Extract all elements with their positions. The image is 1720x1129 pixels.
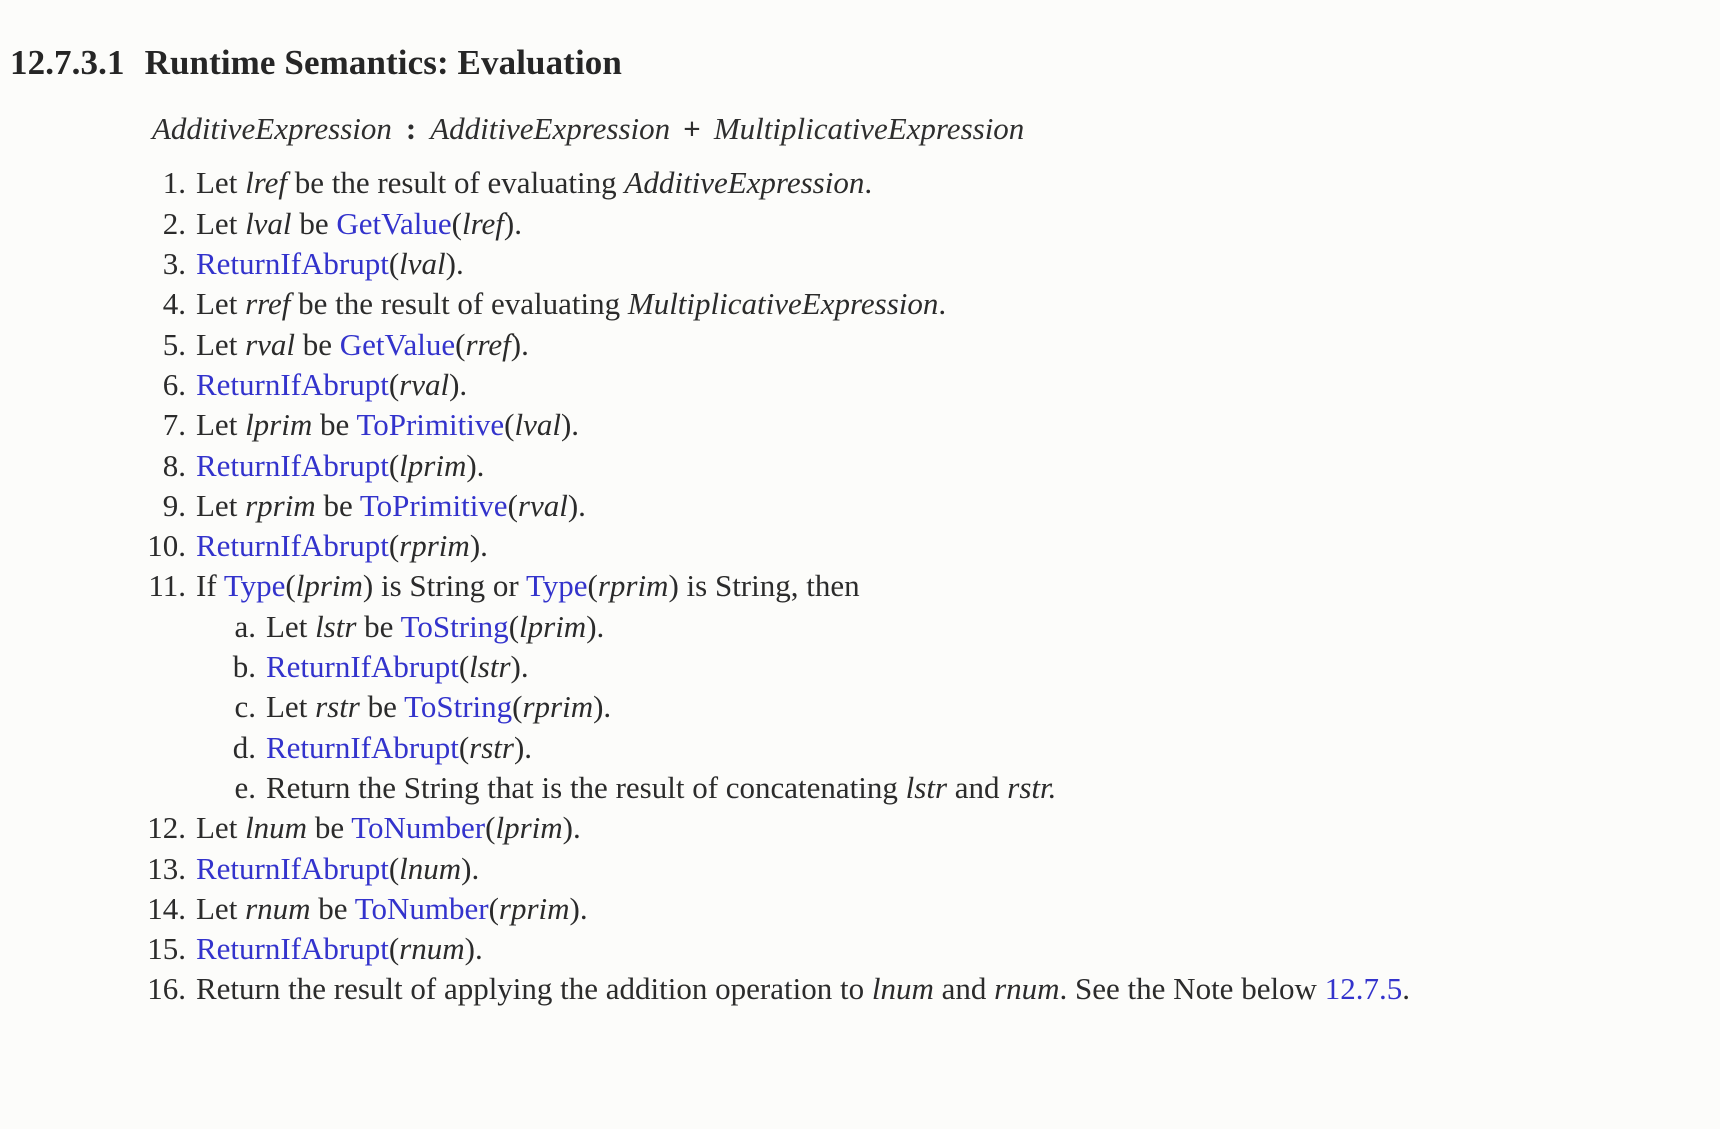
algorithm-step: 10.ReturnIfAbrupt(rprim). — [0, 526, 1720, 566]
step-text: . — [864, 165, 872, 200]
abstract-operation-link[interactable]: ReturnIfAbrupt — [196, 367, 389, 402]
step-text: Let — [196, 286, 245, 321]
step-body: ReturnIfAbrupt(rstr). — [266, 728, 532, 768]
step-text: ( — [504, 407, 514, 442]
algorithm-step: 16.Return the result of applying the add… — [0, 969, 1720, 1009]
abstract-operation-link[interactable]: ToString — [401, 609, 509, 644]
step-body: ReturnIfAbrupt(lval). — [196, 244, 464, 284]
variable-name: rnum — [994, 971, 1059, 1006]
step-text: ). — [466, 448, 484, 483]
step-body: ReturnIfAbrupt(lnum). — [196, 849, 479, 889]
step-text: be — [292, 206, 337, 241]
step-marker: 4. — [114, 284, 186, 324]
step-text: Let — [196, 488, 245, 523]
step-marker: 16. — [114, 969, 186, 1009]
step-text: and — [947, 770, 1007, 805]
step-text: be — [312, 407, 356, 442]
step-text: ( — [389, 246, 399, 281]
algorithm-step: 4.Let rref be the result of evaluating M… — [0, 284, 1720, 324]
step-text: ( — [389, 851, 399, 886]
variable-name: lprim — [519, 609, 586, 644]
step-text: Let — [266, 689, 315, 724]
step-text: . See the Note below — [1060, 971, 1325, 1006]
variable-name: lstr — [315, 609, 356, 644]
variable-name: lstr — [469, 649, 510, 684]
step-text: ). — [511, 649, 529, 684]
step-text: ( — [452, 206, 462, 241]
step-marker: 6. — [114, 365, 186, 405]
step-text: ( — [389, 931, 399, 966]
step-marker: 13. — [114, 849, 186, 889]
step-text: Return the String that is the result of … — [266, 770, 906, 805]
abstract-operation-link[interactable]: ReturnIfAbrupt — [196, 851, 389, 886]
step-text: ). — [563, 810, 581, 845]
step-text: be the result of evaluating — [290, 286, 627, 321]
variable-name: lref — [462, 206, 504, 241]
step-body: Let lstr be ToString(lprim). — [266, 607, 604, 647]
step-text: ( — [587, 568, 597, 603]
step-marker: e. — [186, 768, 256, 808]
algorithm-step: 15.ReturnIfAbrupt(rnum). — [0, 929, 1720, 969]
production-rhs-second: MultiplicativeExpression — [714, 111, 1025, 146]
step-body: Let rprim be ToPrimitive(rval). — [196, 486, 586, 526]
algorithm-step: 2.Let lval be GetValue(lref). — [0, 204, 1720, 244]
abstract-operation-link[interactable]: Type — [526, 568, 588, 603]
abstract-operation-link[interactable]: ReturnIfAbrupt — [196, 931, 389, 966]
step-text: ). — [504, 206, 522, 241]
page-title: 12.7.3.1 Runtime Semantics: Evaluation — [0, 23, 1720, 85]
step-text: . — [938, 286, 946, 321]
step-marker: 2. — [114, 204, 186, 244]
abstract-operation-link[interactable]: Type — [224, 568, 286, 603]
step-text: be — [311, 891, 355, 926]
step-body: Let rstr be ToString(rprim). — [266, 687, 611, 727]
step-text: ( — [285, 568, 295, 603]
step-text: ). — [514, 730, 532, 765]
step-body: ReturnIfAbrupt(lstr). — [266, 647, 529, 687]
step-body: Return the String that is the result of … — [266, 768, 1056, 808]
clause-cross-reference-link[interactable]: 12.7.5 — [1325, 971, 1403, 1006]
step-text: ( — [508, 488, 518, 523]
step-text: ). — [561, 407, 579, 442]
step-text: ). — [586, 609, 604, 644]
step-body: Return the result of applying the additi… — [196, 969, 1410, 1009]
step-marker: c. — [186, 687, 256, 727]
variable-name: lprim — [399, 448, 466, 483]
algorithm-substep: a.Let lstr be ToString(lprim). — [0, 607, 1720, 647]
algorithm-step: 12.Let lnum be ToNumber(lprim). — [0, 808, 1720, 848]
step-text: Let — [196, 810, 245, 845]
step-text: Let — [196, 327, 245, 362]
step-text: ). — [570, 891, 588, 926]
step-marker: 10. — [114, 526, 186, 566]
step-body: Let lref be the result of evaluating Add… — [196, 163, 872, 203]
step-marker: 8. — [114, 446, 186, 486]
step-body: Let rref be the result of evaluating Mul… — [196, 284, 946, 324]
variable-name: lnum — [872, 971, 934, 1006]
step-text: ( — [459, 730, 469, 765]
step-text: be the result of evaluating — [287, 165, 624, 200]
step-text: ). — [593, 689, 611, 724]
variable-name: lprim — [495, 810, 562, 845]
clause-number: 12.7.3.1 — [10, 41, 125, 85]
abstract-operation-link[interactable]: ReturnIfAbrupt — [266, 649, 459, 684]
variable-name: lval — [245, 206, 292, 241]
algorithm-step: 8.ReturnIfAbrupt(lprim). — [0, 446, 1720, 486]
variable-name: lprim — [296, 568, 363, 603]
step-text: ( — [389, 367, 399, 402]
spec-page: 12.7.3.1 Runtime Semantics: Evaluation A… — [0, 23, 1720, 1129]
algorithm-step: 3.ReturnIfAbrupt(lval). — [0, 244, 1720, 284]
abstract-operation-link[interactable]: ToString — [404, 689, 512, 724]
step-marker: b. — [186, 647, 256, 687]
substep-group: a.Let lstr be ToString(lprim).b.ReturnIf… — [0, 607, 1720, 808]
step-marker: 11. — [114, 566, 186, 606]
production-colon: : — [406, 111, 416, 146]
step-body: ReturnIfAbrupt(rval). — [196, 365, 467, 405]
abstract-operation-link[interactable]: ToPrimitive — [360, 488, 508, 523]
step-marker: 14. — [114, 889, 186, 929]
step-marker: d. — [186, 728, 256, 768]
algorithm-step: 5.Let rval be GetValue(rref). — [0, 325, 1720, 365]
step-text: Let — [196, 407, 245, 442]
step-text: ). — [568, 488, 586, 523]
production-lhs: AdditiveExpression — [152, 111, 392, 146]
clause-title: Runtime Semantics: Evaluation — [145, 41, 622, 85]
step-body: ReturnIfAbrupt(rprim). — [196, 526, 488, 566]
step-text: Let — [196, 165, 245, 200]
variable-name: rstr — [469, 730, 514, 765]
step-body: ReturnIfAbrupt(lprim). — [196, 446, 484, 486]
step-body: Let lnum be ToNumber(lprim). — [196, 808, 581, 848]
step-text: Let — [196, 891, 245, 926]
step-text: If — [196, 568, 224, 603]
step-text: ( — [489, 891, 499, 926]
variable-name: rstr — [315, 689, 360, 724]
variable-name: MultiplicativeExpression — [628, 286, 939, 321]
step-text: ). — [465, 931, 483, 966]
variable-name: rstr. — [1007, 770, 1056, 805]
step-text: Return the result of applying the additi… — [196, 971, 872, 1006]
step-text: ( — [512, 689, 522, 724]
abstract-operation-link[interactable]: ToNumber — [355, 891, 489, 926]
step-text: be — [360, 689, 404, 724]
step-body: Let rval be GetValue(rref). — [196, 325, 529, 365]
step-text: be — [295, 327, 340, 362]
algorithm-substep: c.Let rstr be ToString(rprim). — [0, 687, 1720, 727]
variable-name: rprim — [245, 488, 316, 523]
algorithm-step: 9.Let rprim be ToPrimitive(rval). — [0, 486, 1720, 526]
variable-name: rref — [465, 327, 510, 362]
step-text: ( — [389, 448, 399, 483]
variable-name: lnum — [245, 810, 307, 845]
variable-name: rval — [399, 367, 449, 402]
step-marker: a. — [186, 607, 256, 647]
step-marker: 1. — [114, 163, 186, 203]
production-operator: + — [683, 111, 701, 146]
variable-name: lval — [399, 246, 446, 281]
step-body: ReturnIfAbrupt(rnum). — [196, 929, 483, 969]
algorithm-step: 13.ReturnIfAbrupt(lnum). — [0, 849, 1720, 889]
algorithm-substep: b.ReturnIfAbrupt(lstr). — [0, 647, 1720, 687]
algorithm-step: 7.Let lprim be ToPrimitive(lval). — [0, 405, 1720, 445]
step-text: be — [356, 609, 400, 644]
algorithm-step: 1.Let lref be the result of evaluating A… — [0, 163, 1720, 203]
step-text: ). — [461, 851, 479, 886]
step-marker: 3. — [114, 244, 186, 284]
step-marker: 7. — [114, 405, 186, 445]
abstract-operation-link[interactable]: GetValue — [336, 206, 451, 241]
step-marker: 5. — [114, 325, 186, 365]
step-body: Let lprim be ToPrimitive(lval). — [196, 405, 579, 445]
step-text: ). — [446, 246, 464, 281]
variable-name: rprim — [522, 689, 593, 724]
algorithm-substeps: a.Let lstr be ToString(lprim).b.ReturnIf… — [0, 607, 1720, 808]
step-text: ( — [455, 327, 465, 362]
variable-name: lnum — [399, 851, 461, 886]
variable-name: rval — [245, 327, 295, 362]
variable-name: AdditiveExpression — [624, 165, 864, 200]
abstract-operation-link[interactable]: ToNumber — [351, 810, 485, 845]
step-marker: 15. — [114, 929, 186, 969]
variable-name: rprim — [399, 528, 470, 563]
variable-name: lval — [514, 407, 561, 442]
abstract-operation-link[interactable]: ToPrimitive — [356, 407, 504, 442]
step-text: be — [307, 810, 351, 845]
step-text: and — [934, 971, 994, 1006]
variable-name: lref — [245, 165, 287, 200]
variable-name: rprim — [598, 568, 669, 603]
abstract-operation-link[interactable]: ReturnIfAbrupt — [196, 528, 389, 563]
abstract-operation-link[interactable]: ReturnIfAbrupt — [196, 246, 389, 281]
step-text: ( — [389, 528, 399, 563]
algorithm-substep: e.Return the String that is the result o… — [0, 768, 1720, 808]
step-text: ) is String or — [363, 568, 526, 603]
production-rhs-first: AdditiveExpression — [430, 111, 670, 146]
step-text: . — [1402, 971, 1410, 1006]
step-text: ( — [485, 810, 495, 845]
variable-name: lprim — [245, 407, 312, 442]
algorithm-step: 14.Let rnum be ToNumber(rprim). — [0, 889, 1720, 929]
variable-name: rval — [518, 488, 568, 523]
variable-name: rprim — [499, 891, 570, 926]
algorithm-steps: 1.Let lref be the result of evaluating A… — [0, 163, 1720, 1009]
step-text: ) is String, then — [668, 568, 859, 603]
step-text: Let — [266, 609, 315, 644]
variable-name: rnum — [399, 931, 464, 966]
algorithm-step: 6.ReturnIfAbrupt(rval). — [0, 365, 1720, 405]
step-text: ( — [509, 609, 519, 644]
variable-name: rnum — [245, 891, 310, 926]
grammar-production: AdditiveExpression:AdditiveExpression+Mu… — [152, 109, 1720, 149]
algorithm-step: 11.If Type(lprim) is String or Type(rpri… — [0, 566, 1720, 606]
variable-name: lstr — [906, 770, 947, 805]
variable-name: rref — [245, 286, 290, 321]
step-body: Let rnum be ToNumber(rprim). — [196, 889, 588, 929]
abstract-operation-link[interactable]: ReturnIfAbrupt — [266, 730, 459, 765]
step-body: If Type(lprim) is String or Type(rprim) … — [196, 566, 860, 606]
step-marker: 9. — [114, 486, 186, 526]
step-text: ( — [459, 649, 469, 684]
step-text: be — [316, 488, 360, 523]
step-text: Let — [196, 206, 245, 241]
step-marker: 12. — [114, 808, 186, 848]
step-body: Let lval be GetValue(lref). — [196, 204, 522, 244]
step-text: ). — [511, 327, 529, 362]
abstract-operation-link[interactable]: ReturnIfAbrupt — [196, 448, 389, 483]
abstract-operation-link[interactable]: GetValue — [340, 327, 455, 362]
algorithm-substep: d.ReturnIfAbrupt(rstr). — [0, 728, 1720, 768]
step-text: ). — [449, 367, 467, 402]
step-text: ). — [470, 528, 488, 563]
